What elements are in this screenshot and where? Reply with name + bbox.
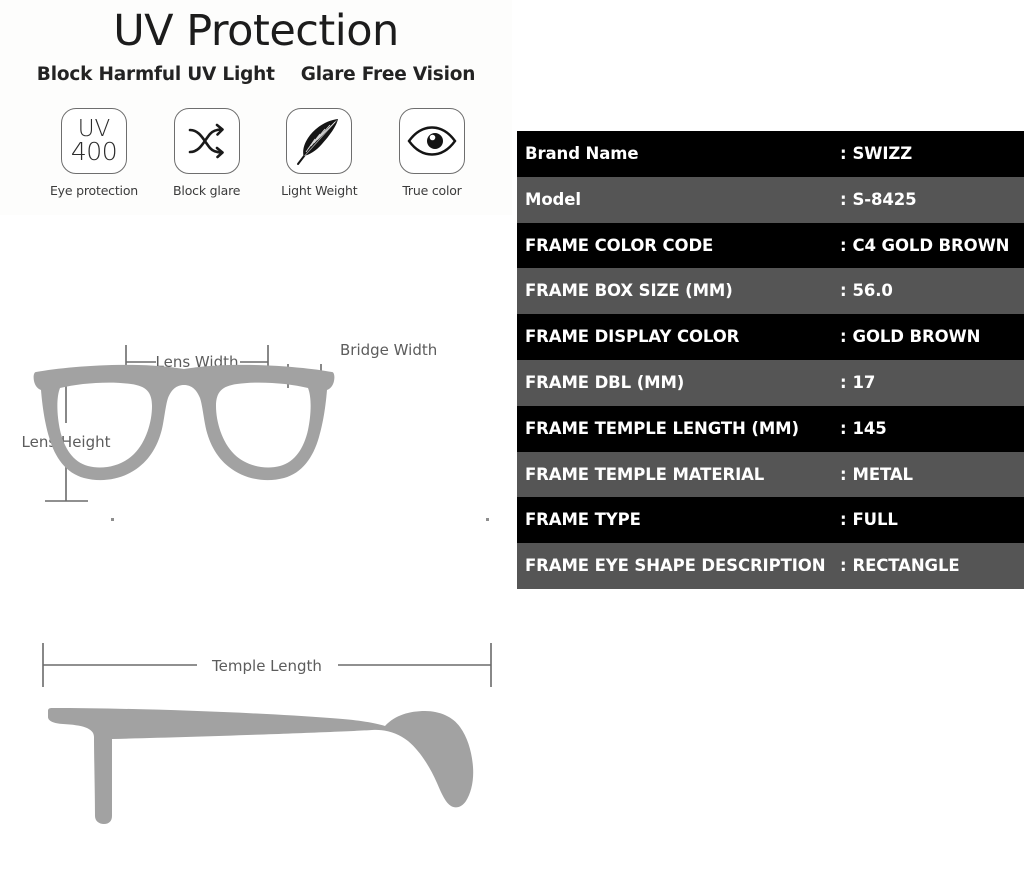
separator-colon: : [840, 419, 847, 438]
table-row: Brand Name :SWIZZ [517, 131, 1024, 177]
eye-icon-wrap [399, 108, 465, 174]
separator-colon: : [840, 190, 847, 209]
feature-label-block-glare: Block glare [173, 183, 240, 198]
glasses-temple-side-view-diagram: Temple Length [0, 625, 512, 875]
dimension-label-temple-length: Temple Length [211, 657, 322, 675]
spec-label-model: Model [517, 177, 840, 223]
spec-label-frame-display-color: FRAME DISPLAY COLOR [517, 314, 840, 360]
shuffle-arrows-icon-wrap [174, 108, 240, 174]
spec-value-text: 145 [853, 419, 887, 438]
product-illustration-panel: UV Protection Block Harmful UV Light Gla… [0, 0, 512, 886]
spec-value-frame-display-color: :GOLD BROWN [840, 314, 1024, 360]
feather-icon [295, 116, 343, 166]
feature-label-light-weight: Light Weight [281, 183, 357, 198]
spec-value-text: 17 [853, 373, 876, 392]
spec-value-text: S-8425 [853, 190, 917, 209]
spec-label-frame-temple-length: FRAME TEMPLE LENGTH (MM) [517, 406, 840, 452]
spec-label-frame-temple-material: FRAME TEMPLE MATERIAL [517, 452, 840, 498]
spec-value-frame-temple-material: :METAL [840, 452, 1024, 498]
separator-colon: : [840, 236, 847, 255]
separator-colon: : [840, 281, 847, 300]
promo-subtitle-block-uv: Block Harmful UV Light [37, 64, 275, 85]
spec-value-frame-color-code: :C4 GOLD BROWN [840, 223, 1024, 269]
feature-label-eye-protection: Eye protection [50, 183, 138, 198]
feature-light-weight: Light Weight [273, 108, 365, 198]
spec-value-text: GOLD BROWN [853, 327, 981, 346]
spec-value-frame-temple-length: :145 [840, 406, 1024, 452]
spec-label-frame-color-code: FRAME COLOR CODE [517, 223, 840, 269]
page-title: UV Protection [0, 6, 512, 56]
promo-subtitle-row: Block Harmful UV Light Glare Free Vision [0, 64, 512, 85]
spec-value-text: METAL [853, 465, 913, 484]
table-row: FRAME EYE SHAPE DESCRIPTION :RECTANGLE [517, 543, 1024, 589]
table-row: FRAME TYPE :FULL [517, 497, 1024, 543]
uv400-icon-bottom-text: 400 [71, 140, 117, 163]
glasses-front-view-diagram: Lens Width Bridge Width Lens Height [0, 310, 512, 560]
spec-value-text: RECTANGLE [853, 556, 960, 575]
spec-value-frame-box-size: :56.0 [840, 268, 1024, 314]
temple-arm-silhouette [48, 708, 473, 824]
feature-label-true-color: True color [402, 183, 461, 198]
spec-value-frame-type: :FULL [840, 497, 1024, 543]
spec-label-frame-type: FRAME TYPE [517, 497, 840, 543]
table-row: FRAME TEMPLE MATERIAL :METAL [517, 452, 1024, 498]
spec-label-frame-dbl: FRAME DBL (MM) [517, 360, 840, 406]
table-row: FRAME TEMPLE LENGTH (MM) :145 [517, 406, 1024, 452]
spec-value-model: :S-8425 [840, 177, 1024, 223]
separator-colon: : [840, 373, 847, 392]
promo-subtitle-glare-free: Glare Free Vision [301, 64, 475, 85]
table-row: FRAME BOX SIZE (MM) :56.0 [517, 268, 1024, 314]
separator-colon: : [840, 556, 847, 575]
feature-block-glare: Block glare [161, 108, 253, 198]
spec-value-text: SWIZZ [853, 144, 913, 163]
product-specification-table: Brand Name :SWIZZ Model :S-8425 FRAME CO… [517, 131, 1024, 589]
spec-value-text: C4 GOLD BROWN [853, 236, 1010, 255]
spec-label-brand-name: Brand Name [517, 131, 840, 177]
feature-eye-protection: UV 400 Eye protection [48, 108, 140, 198]
dimension-label-bridge-width: Bridge Width [340, 341, 437, 359]
table-row: FRAME COLOR CODE :C4 GOLD BROWN [517, 223, 1024, 269]
spec-value-brand-name: :SWIZZ [840, 131, 1024, 177]
uv400-badge-icon: UV 400 [61, 108, 127, 174]
spec-value-text: 56.0 [853, 281, 893, 300]
table-row: FRAME DBL (MM) :17 [517, 360, 1024, 406]
separator-colon: : [840, 144, 847, 163]
separator-colon: : [840, 327, 847, 346]
separator-colon: : [840, 510, 847, 529]
shuffle-arrows-icon [184, 121, 230, 161]
table-row: Model :S-8425 [517, 177, 1024, 223]
eye-icon [406, 125, 458, 157]
uv-protection-banner: UV Protection Block Harmful UV Light Gla… [0, 0, 512, 215]
separator-colon: : [840, 465, 847, 484]
spec-value-frame-dbl: :17 [840, 360, 1024, 406]
table-row: FRAME DISPLAY COLOR :GOLD BROWN [517, 314, 1024, 360]
feature-true-color: True color [386, 108, 478, 198]
spec-label-frame-eye-shape-description: FRAME EYE SHAPE DESCRIPTION [517, 543, 840, 589]
feather-icon-wrap [286, 108, 352, 174]
spec-value-text: FULL [853, 510, 898, 529]
spec-label-frame-box-size: FRAME BOX SIZE (MM) [517, 268, 840, 314]
spec-value-frame-eye-shape-description: :RECTANGLE [840, 543, 1024, 589]
feature-badge-row: UV 400 Eye protection [48, 108, 478, 198]
spec-table-body: Brand Name :SWIZZ Model :S-8425 FRAME CO… [517, 131, 1024, 589]
